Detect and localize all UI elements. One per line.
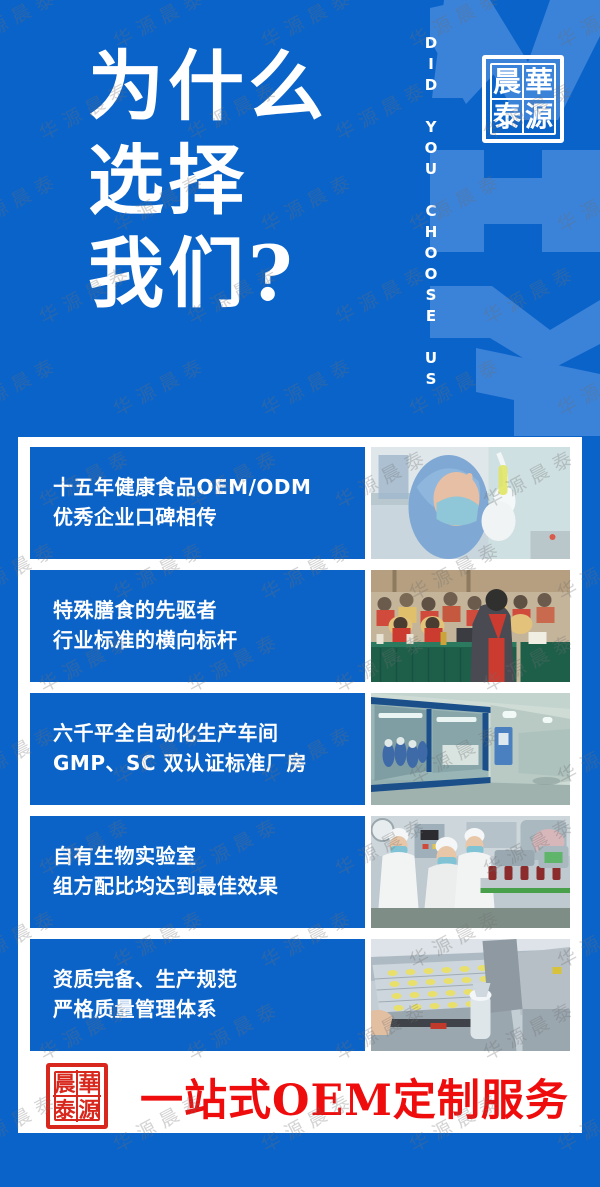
feature-text-line-2: GMP、SC 双认证标准厂房 xyxy=(53,749,365,779)
feature-row: 自有生物实验室组方配比均达到最佳效果 xyxy=(30,816,570,928)
feature-card-1: 十五年健康食品OEM/ODM优秀企业口碑相传 xyxy=(30,447,365,559)
feature-text-line-2: 优秀企业口碑相传 xyxy=(53,503,365,533)
feature-text-line-2: 组方配比均达到最佳效果 xyxy=(53,872,365,902)
feature-text-line-1: 自有生物实验室 xyxy=(53,842,365,872)
headline-line-1: 为什么 xyxy=(88,48,418,126)
seal-glyphs: 晨 華 泰 源 xyxy=(491,64,555,134)
feature-row: 十五年健康食品OEM/ODM优秀企业口碑相传 xyxy=(30,447,570,559)
seal-glyph-top-right: 華 xyxy=(523,64,555,99)
header-section: 为什么 选择 我们? DID YOU CHOOSE US 晨 華 泰 源 xyxy=(0,0,600,437)
watermark-text: 华源晨泰 xyxy=(478,1177,583,1187)
page-title: 为什么 选择 我们? xyxy=(88,48,418,313)
banner-seal-glyph-bottom-left: 泰 xyxy=(53,1096,77,1122)
company-seal-logo: 晨 華 泰 源 xyxy=(482,55,564,143)
banner-seal-logo: 晨 華 泰 源 xyxy=(46,1063,108,1129)
features-panel: 十五年健康食品OEM/ODM优秀企业口碑相传 特殊膳食的先驱者行业标准的横向标杆 xyxy=(18,437,582,1133)
feature-card-4: 自有生物实验室组方配比均达到最佳效果 xyxy=(30,816,365,928)
feature-text-line-2: 严格质量管理体系 xyxy=(53,995,365,1025)
feature-text-line-1: 特殊膳食的先驱者 xyxy=(53,596,365,626)
vertical-english-tagline: DID YOU CHOOSE US xyxy=(414,22,440,402)
capsule-filling-machine-photo xyxy=(371,939,570,1051)
feature-text-line-1: 六千平全自动化生产车间 xyxy=(53,719,365,749)
production-line-workers-photo xyxy=(371,816,570,928)
seal-glyph-top-left: 晨 xyxy=(491,64,523,99)
feature-card-2: 特殊膳食的先驱者行业标准的横向标杆 xyxy=(30,570,365,682)
feature-row: 六千平全自动化生产车间GMP、SC 双认证标准厂房 xyxy=(30,693,570,805)
seal-glyph-bottom-right: 源 xyxy=(523,99,555,134)
feature-card-3: 六千平全自动化生产车间GMP、SC 双认证标准厂房 xyxy=(30,693,365,805)
headline-line-3: 我们? xyxy=(88,235,418,313)
banner-slogan: 一站式OEM定制服务 xyxy=(140,1066,569,1128)
cleanroom-corridor-photo xyxy=(371,693,570,805)
feature-row: 资质完备、生产规范严格质量管理体系 xyxy=(30,939,570,1051)
lab-technician-with-vial-photo xyxy=(371,447,570,559)
feature-text-line-1: 十五年健康食品OEM/ODM xyxy=(53,473,365,503)
seal-glyph-bottom-left: 泰 xyxy=(491,99,523,134)
banner-seal-glyphs: 晨 華 泰 源 xyxy=(53,1070,101,1122)
banner-seal-glyph-top-right: 華 xyxy=(77,1070,101,1096)
headline-line-2: 选择 xyxy=(88,142,418,220)
banner-seal-glyph-top-left: 晨 xyxy=(53,1070,77,1096)
watermark-text: 华源晨泰 xyxy=(182,1177,287,1187)
feature-text-line-1: 资质完备、生产规范 xyxy=(53,965,365,995)
watermark-text: 华源晨泰 xyxy=(330,1177,435,1187)
feature-card-5: 资质完备、生产规范严格质量管理体系 xyxy=(30,939,365,1051)
banner-seal-glyph-bottom-right: 源 xyxy=(77,1096,101,1122)
feature-text-line-2: 行业标准的横向标杆 xyxy=(53,626,365,656)
feature-row: 特殊膳食的先驱者行业标准的横向标杆 xyxy=(30,570,570,682)
features-list: 十五年健康食品OEM/ODM优秀企业口碑相传 特殊膳食的先驱者行业标准的横向标杆 xyxy=(30,447,570,1051)
poster-root: 为什么 选择 我们? DID YOU CHOOSE US 晨 華 泰 源 十五年… xyxy=(0,0,600,1187)
watermark-text: 华源晨泰 xyxy=(34,1177,139,1187)
conference-audience-photo xyxy=(371,570,570,682)
